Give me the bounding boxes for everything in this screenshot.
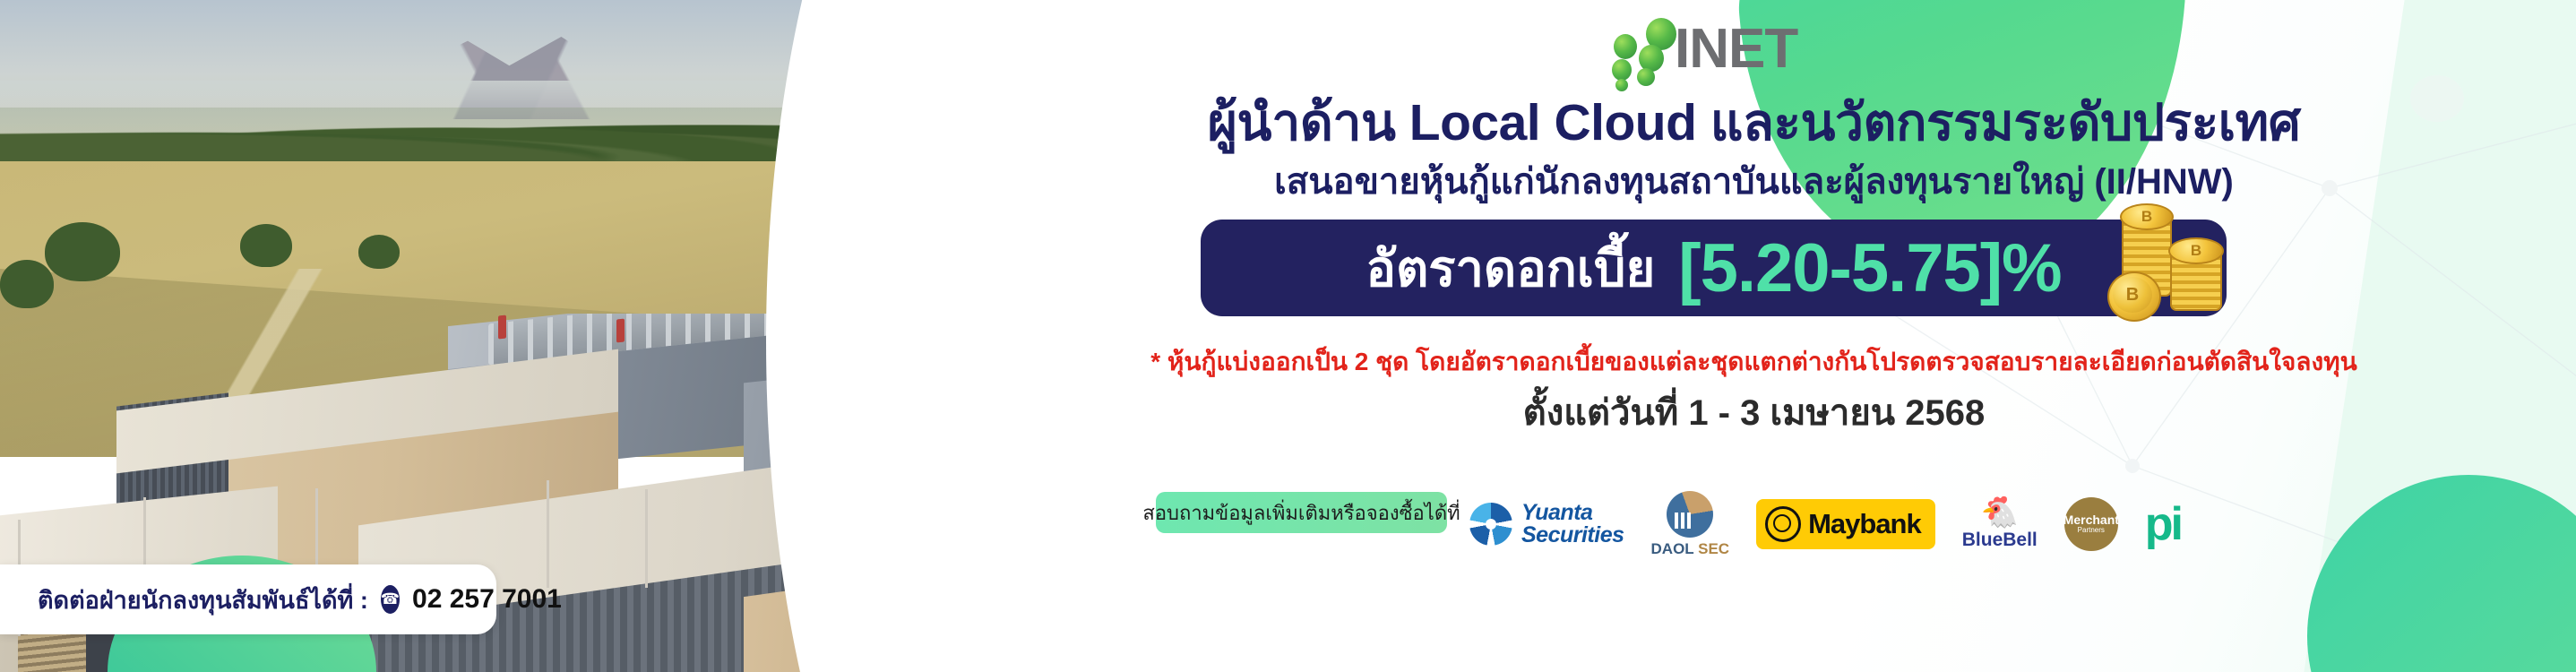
daol-text-sub: SEC: [1698, 540, 1729, 557]
merchant-line2: Partners: [2078, 527, 2105, 534]
inet-logo-text: INET: [1675, 22, 1797, 77]
partner-daol-sec[interactable]: DAOL SEC: [1651, 491, 1730, 558]
yuanta-star-icon: [1469, 503, 1512, 546]
partner-merchant-partners[interactable]: Merchant Partners: [2064, 497, 2118, 551]
investor-relations-contact-card: ติดต่อฝ่ายนักลงทุนสัมพันธ์ได้ที่ : ☎ 02 …: [0, 564, 496, 634]
interest-rate-block: อัตราดอกเบี้ย [5.20-5.75]% B B B: [1201, 220, 2312, 323]
gold-coin-stack-icon: B B B: [2106, 203, 2249, 329]
inet-bond-offering-banner: INET ผู้นำด้าน Local Cloud และนวัตกรรมระ…: [0, 0, 2576, 672]
interest-rate-box: อัตราดอกเบี้ย [5.20-5.75]%: [1201, 220, 2227, 316]
merchant-line1: Merchant: [2063, 513, 2119, 527]
partner-yuanta[interactable]: Yuanta Securities: [1469, 502, 1624, 547]
yuanta-line2: Securities: [1521, 524, 1624, 547]
yuanta-wordmark: Yuanta Securities: [1521, 502, 1624, 547]
tree: [45, 222, 120, 281]
maybank-tiger-icon: [1765, 506, 1801, 542]
light-pole: [645, 489, 648, 588]
daol-circle-icon: [1667, 491, 1713, 538]
daol-wordmark: DAOL SEC: [1651, 540, 1730, 558]
inet-bubbles-logo: [1599, 16, 1682, 81]
interest-rate-value: [5.20-5.75]%: [1678, 229, 2061, 307]
daol-text-main: DAOL: [1651, 540, 1694, 557]
bluebell-wordmark: BlueBell: [1962, 530, 2038, 551]
page-title: ผู้นำด้าน Local Cloud และนวัตกรรมระดับปร…: [932, 82, 2576, 163]
offering-dates: ตั้งแต่วันที่ 1 - 3 เมษายน 2568: [932, 383, 2576, 441]
light-pole: [547, 480, 549, 588]
inet-logo[interactable]: INET: [1599, 16, 1841, 81]
yuanta-line1: Yuanta: [1521, 502, 1624, 525]
tree: [0, 260, 54, 308]
phone-icon: ☎: [381, 585, 400, 614]
partner-bluebell[interactable]: 🐔 BlueBell: [1962, 497, 2038, 551]
disclaimer-text: * หุ้นกู้แบ่งออกเป็น 2 ชุด โดยอัตราดอกเบ…: [932, 342, 2576, 382]
rooftop-pipe: [616, 319, 625, 343]
tree: [358, 235, 400, 269]
partner-pi[interactable]: pi: [2145, 501, 2181, 547]
rooftop-pipe: [498, 315, 506, 340]
partner-maybank[interactable]: Maybank: [1756, 499, 1935, 549]
right-content: INET ผู้นำด้าน Local Cloud และนวัตกรรมระ…: [932, 0, 2576, 672]
inquiry-button[interactable]: สอบถามข้อมูลเพิ่มเติมหรือจองซื้อได้ที่: [1156, 492, 1447, 533]
partner-logo-list: Yuanta Securities DAOL SEC Maybank: [1469, 479, 2572, 569]
interest-rate-label: อัตราดอกเบี้ย: [1366, 228, 1655, 308]
cta-and-partners-row: สอบถามข้อมูลเพิ่มเติมหรือจองซื้อได้ที่ Y…: [932, 488, 2576, 569]
bluebell-deer-icon: 🐔: [1981, 497, 2019, 528]
contact-label: ติดต่อฝ่ายนักลงทุนสัมพันธ์ได้ที่ :: [38, 581, 368, 619]
tree: [240, 224, 292, 267]
maybank-wordmark: Maybank: [1808, 508, 1921, 540]
page-subtitle: เสนอขายหุ้นกู้แก่นักลงทุนสถาบันและผู้ลงท…: [932, 152, 2576, 210]
contact-phone-number[interactable]: 02 257 7001: [412, 584, 562, 615]
